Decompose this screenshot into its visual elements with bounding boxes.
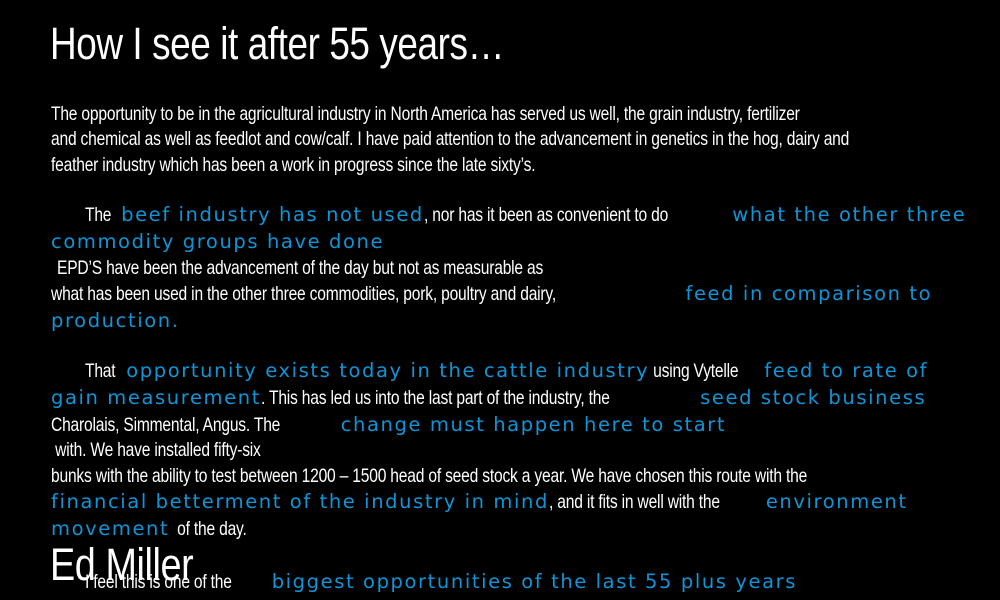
text-run-highlight: gain measurement	[51, 386, 261, 409]
paragraph-1: The opportunity to be in the agricultura…	[51, 76, 976, 178]
text-run-white: , and it fits in well with the	[549, 490, 724, 516]
text-run-highlight: opportunity exists today in the cattle i…	[126, 359, 649, 382]
text-run-white: That	[85, 359, 120, 385]
text-run-white: feather industry which has been a work i…	[51, 153, 535, 179]
text-run-highlight: biggest opportunities of the last 55 plu…	[272, 570, 797, 593]
text-run-white: The	[85, 203, 115, 229]
paragraph-2: The beef industry has not used, nor has …	[51, 202, 976, 334]
text-run-highlight: beef industry has not used	[121, 203, 424, 226]
slide-canvas: How I see it after 55 years… The opportu…	[0, 0, 1000, 600]
body-text-block: The opportunity to be in the agricultura…	[51, 76, 976, 595]
text-run-white: and chemical as well as feedlot and cow/…	[51, 127, 849, 153]
text-run-white: . This has led us into the last part of …	[261, 386, 614, 412]
text-run-white: bunks with the ability to test between 1…	[51, 464, 807, 490]
text-run-white: with. We have installed fifty-six	[51, 438, 261, 464]
author-signature: Ed Miller	[50, 539, 193, 591]
text-run-white: using Vytelle	[649, 359, 743, 385]
paragraph-3: That opportunity exists today in the cat…	[51, 358, 976, 542]
page-title: How I see it after 55 years…	[50, 18, 504, 70]
text-run-white: , nor has it been as convenient to do	[424, 203, 672, 229]
text-run-highlight: commodity groups have done	[51, 230, 384, 253]
text-run-highlight: financial betterment of the industry in …	[51, 490, 549, 513]
text-run-highlight: production.	[51, 309, 180, 332]
text-run-white: EPD’S have been the advancement of the d…	[57, 256, 543, 282]
text-run-highlight: environment	[766, 490, 908, 513]
text-run-white: Charolais, Simmental, Angus. The	[51, 413, 284, 439]
text-run-white: what has been used in the other three co…	[51, 282, 560, 308]
text-run-highlight: change must happen here to start	[341, 413, 726, 436]
text-run-highlight: feed in comparison to	[685, 282, 932, 305]
text-run-highlight: what the other three	[732, 203, 966, 226]
text-run-highlight: movement	[51, 517, 169, 540]
text-run-highlight: seed stock business	[700, 386, 926, 409]
text-run-highlight: feed to rate of	[764, 359, 928, 382]
text-run-white: The opportunity to be in the agricultura…	[51, 102, 800, 128]
